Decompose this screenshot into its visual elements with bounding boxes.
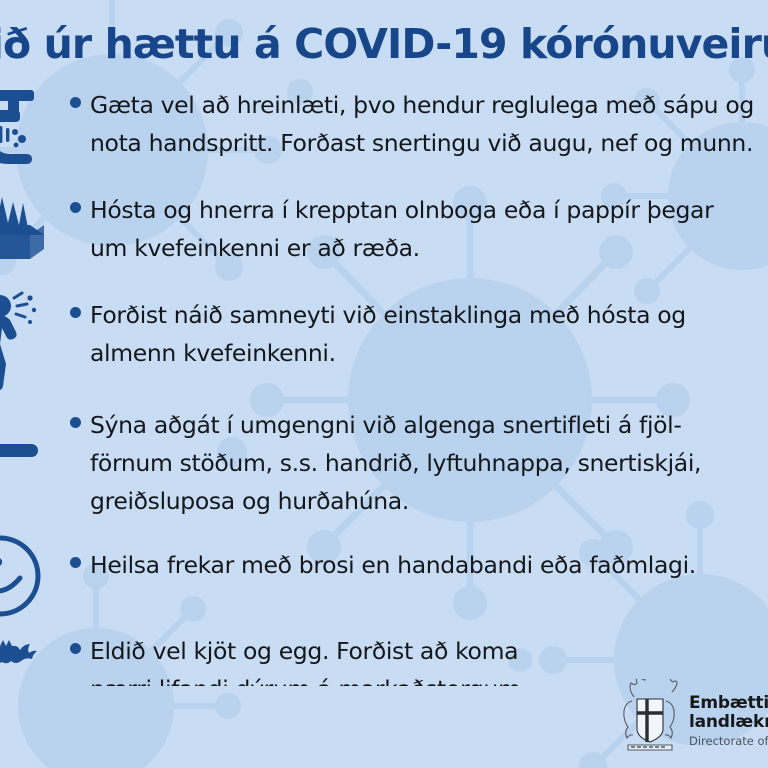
logo-subtitle: Directorate of Health (689, 734, 768, 749)
bullet-dot (70, 307, 81, 318)
coughing-person-icon (0, 290, 52, 390)
directorate-of-health-logo: Embætti landlæknis Directorate of Health (618, 676, 768, 762)
bullet-dot (70, 643, 81, 654)
bullet-dot (70, 97, 81, 108)
covid-prevention-poster: Dregið úr hættu á COVID-19 kórónuveiru s… (0, 0, 768, 768)
page-title: Dregið úr hættu á COVID-19 kórónuveiru s… (0, 14, 768, 74)
list-item-text: Heilsa frekar með brosi en handabandi eð… (90, 546, 768, 584)
list-item-text: Hósta og hnerra í krepptan olnboga eða í… (90, 191, 768, 267)
prevention-tips-list: Gæta vel að hreinlæti, þvo hendur reglul… (0, 86, 768, 686)
door-handle-icon (0, 408, 52, 518)
iceland-coat-of-arms-icon (618, 679, 680, 760)
smiley-face-icon (0, 532, 52, 622)
list-item-text: Forðist náið samneyti við einstaklinga m… (90, 296, 768, 372)
handwashing-tap-icon (0, 88, 52, 172)
title-bar: Dregið úr hættu á COVID-19 kórónuveiru s… (0, 14, 768, 76)
bullet-dot (70, 417, 81, 428)
bullet-dot (70, 557, 81, 568)
list-item-text: Sýna aðgát í umgengni við algenga snerti… (90, 406, 768, 520)
logo-line-1: Embætti (689, 694, 768, 713)
tissue-box-icon (0, 191, 52, 271)
logo-line-2: landlæknis (689, 713, 768, 732)
bat-and-pig-icon (0, 628, 52, 686)
bullet-dot (70, 202, 81, 213)
logo-text-block: Embætti landlæknis Directorate of Health (689, 690, 768, 749)
list-item-text: Gæta vel að hreinlæti, þvo hendur reglul… (90, 86, 768, 162)
